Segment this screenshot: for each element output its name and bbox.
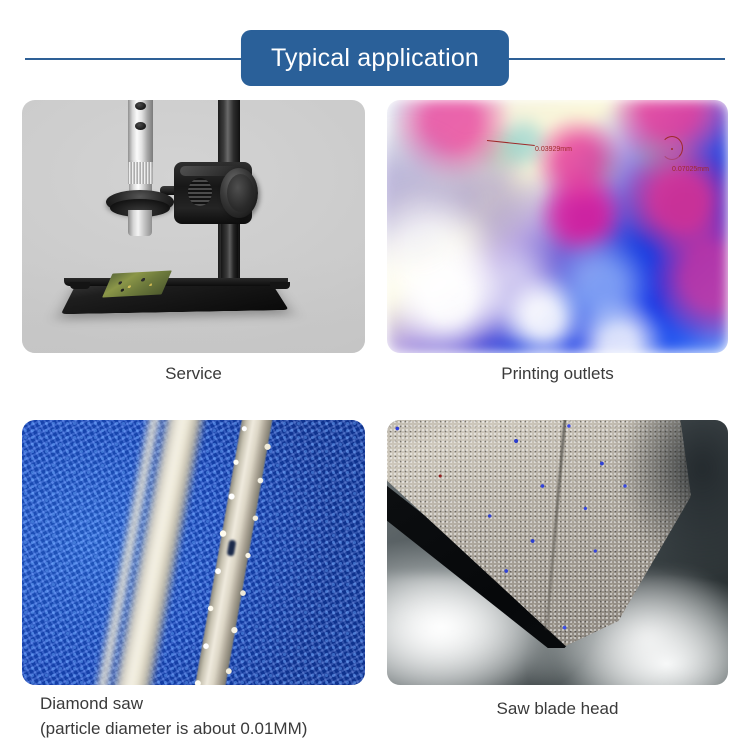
microscope-knurled-ring xyxy=(128,162,153,184)
saw-blade-photo xyxy=(387,420,728,685)
blade-right-shadow xyxy=(618,420,728,576)
caption-service: Service xyxy=(22,362,365,387)
microscope-barrel xyxy=(128,100,153,168)
diamond-saw-photo xyxy=(22,420,365,685)
panel-service[interactable] xyxy=(22,100,365,353)
measurement-center-dot xyxy=(671,148,673,150)
measurement-label-line: 0.03929mm xyxy=(535,146,572,153)
service-photo xyxy=(22,100,365,353)
caption-saw-blade-head: Saw blade head xyxy=(387,697,728,722)
objective-lens xyxy=(128,210,152,236)
application-grid: Service 0.03929mm 0.07025mm Printing out… xyxy=(0,0,750,750)
measurement-label-circle: 0.07025mm xyxy=(672,166,709,173)
microscope-button-upper xyxy=(135,102,146,110)
panel-saw-blade-head[interactable] xyxy=(387,420,728,685)
printing-outlets-photo: 0.03929mm 0.07025mm xyxy=(387,100,728,353)
panel-printing-outlets[interactable]: 0.03929mm 0.07025mm xyxy=(387,100,728,353)
sample-pcb-board xyxy=(102,270,172,297)
microscope-gear xyxy=(188,178,212,206)
focus-knob-face xyxy=(227,174,254,212)
caption-printing-outlets: Printing outlets xyxy=(387,362,728,387)
base-foot-right xyxy=(270,282,290,289)
microscope-button-lower xyxy=(135,122,146,130)
caption-diamond-saw: Diamond saw (particle diameter is about … xyxy=(40,692,370,741)
microscope-post-lower xyxy=(221,220,238,282)
panel-diamond-saw[interactable] xyxy=(22,420,365,685)
typical-application-page: Typical application xyxy=(0,0,750,750)
base-foot-left xyxy=(70,282,90,289)
base-plate-edge xyxy=(64,278,288,286)
